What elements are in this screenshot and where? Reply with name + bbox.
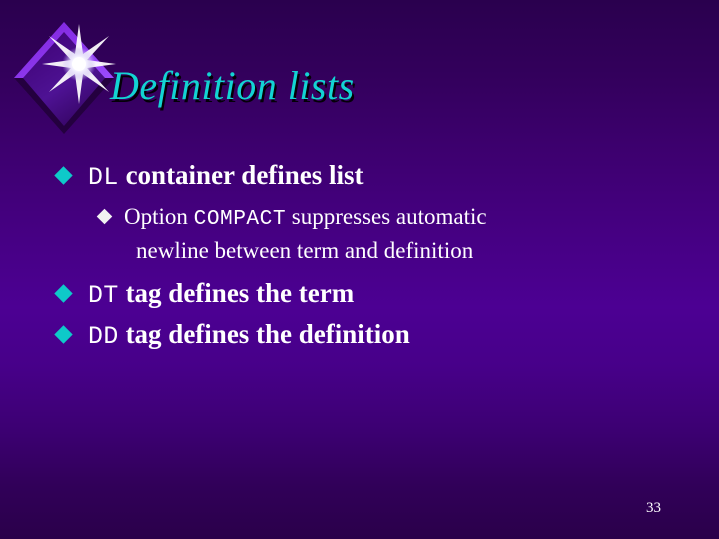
- list-item-compact-text: suppresses automatic: [286, 204, 487, 229]
- list-item-dl: DL container defines list: [52, 158, 672, 195]
- list-item-compact: Option COMPACT suppresses automatic: [52, 201, 672, 235]
- list-item-compact-continuation: newline between term and definition: [52, 235, 672, 266]
- page-number: 33: [646, 500, 661, 517]
- list-item-dt-text: tag defines the term: [119, 278, 354, 308]
- code-tag-compact: COMPACT: [194, 207, 286, 231]
- slide-title: Definition lists: [110, 62, 355, 109]
- code-tag-dt: DT: [88, 282, 119, 310]
- list-item-dd-text: tag defines the definition: [119, 319, 410, 349]
- diamond-bullet-icon: [54, 284, 72, 302]
- list-item-dd: DD tag defines the definition: [52, 317, 672, 354]
- code-tag-dd: DD: [88, 323, 119, 351]
- list-item-dl-text: container defines list: [119, 160, 364, 190]
- list-item-dt: DT tag defines the term: [52, 276, 672, 313]
- diamond-bullet-icon: [54, 325, 72, 343]
- diamond-bullet-icon: [54, 166, 72, 184]
- slide-body-list: DL container defines list Option COMPACT…: [52, 158, 672, 358]
- code-tag-dl: DL: [88, 164, 119, 192]
- presentation-slide: Definition lists DL container defines li…: [0, 0, 719, 539]
- diamond-sub-bullet-icon: [97, 209, 113, 225]
- list-item-compact-prefix: Option: [124, 204, 194, 229]
- sub-list: Option COMPACT suppresses automatic newl…: [52, 201, 672, 266]
- diamond-starburst-logo: [8, 14, 120, 142]
